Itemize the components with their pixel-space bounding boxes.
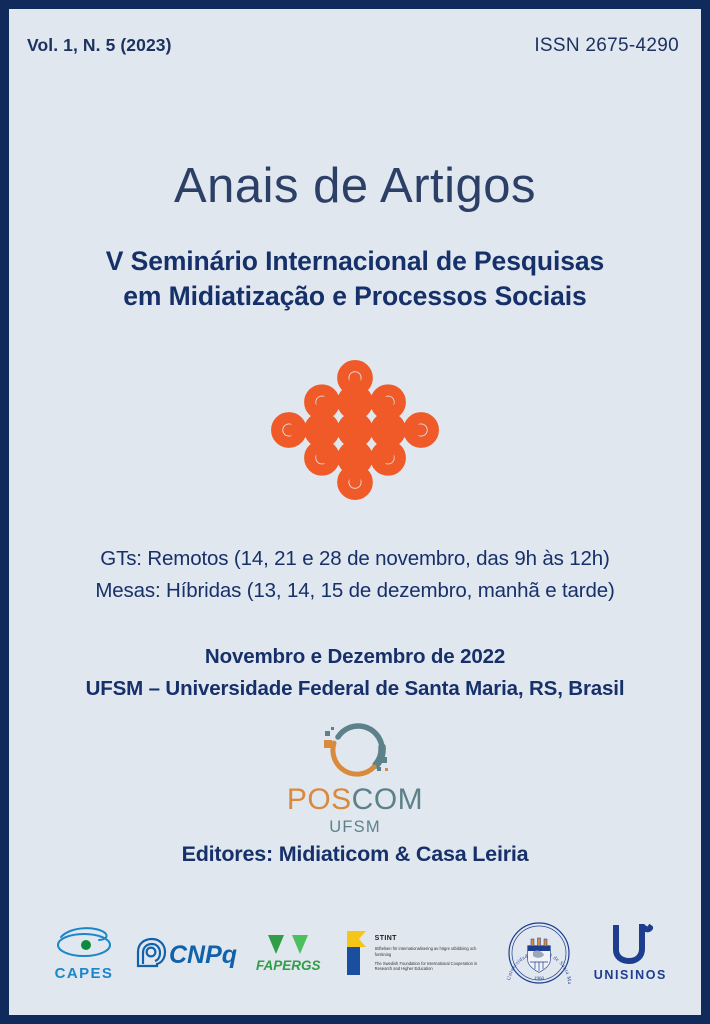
ufsm-seal-year: 1960 xyxy=(534,977,545,982)
stint-swedish-text: Stiftelsen för internationalisering av h… xyxy=(375,946,480,957)
subtitle-line-2: em Midiatização e Processos Sociais xyxy=(9,279,701,314)
logo-cnpq: CNPq xyxy=(133,936,237,970)
capes-label: CAPES xyxy=(55,965,114,982)
network-logo xyxy=(268,343,442,517)
sponsor-logo-row: CAPES CNPq FAPERGS xyxy=(9,907,701,999)
subtitle: V Seminário Internacional de Pesquisas e… xyxy=(9,244,701,314)
schedule-line-gts: GTs: Remotos (14, 21 e 28 de novembro, d… xyxy=(9,543,701,575)
logo-ufsm-seal: Universidade Federal de Santa Maria xyxy=(502,916,576,990)
svg-text:FAPERGS: FAPERGS xyxy=(256,958,321,973)
stint-label: STINT xyxy=(375,934,485,943)
stint-english-text: The Swedish Foundation for International… xyxy=(375,961,485,972)
schedule-line-mesas: Mesas: Híbridas (13, 14, 15 de dezembro,… xyxy=(9,575,701,607)
subtitle-line-1: V Seminário Internacional de Pesquisas xyxy=(9,244,701,279)
event-date: Novembro e Dezembro de 2022 xyxy=(9,641,701,673)
event-venue: UFSM – Universidade Federal de Santa Mar… xyxy=(9,673,701,705)
journal-cover: Vol. 1, N. 5 (2023) ISSN 2675-4290 Anais… xyxy=(0,0,710,1024)
poscom-word-com: COM xyxy=(352,783,424,816)
poscom-wordmark: POSCOM xyxy=(265,785,445,815)
schedule-block: GTs: Remotos (14, 21 e 28 de novembro, d… xyxy=(9,543,701,607)
logo-unisinos: UNISINOS xyxy=(594,924,667,982)
title-block: Anais de Artigos V Seminário Internacion… xyxy=(9,161,701,314)
unisinos-label: UNISINOS xyxy=(594,968,667,982)
poscom-sublabel: UFSM xyxy=(265,818,445,837)
editors-line: Editores: Midiaticom & Casa Leiria xyxy=(9,842,701,867)
fapergs-leaf-icon: FAPERGS xyxy=(254,932,326,974)
svg-text:CNPq: CNPq xyxy=(169,941,237,969)
logo-stint: STINT Stiftelsen för internationaliserin… xyxy=(344,929,485,977)
capes-atom-icon xyxy=(53,924,115,964)
logo-capes: CAPES xyxy=(53,924,115,982)
page-title: Anais de Artigos xyxy=(9,161,701,212)
poscom-ring-icon xyxy=(312,721,398,783)
issn-label: ISSN 2675-4290 xyxy=(534,35,679,57)
cover-header: Vol. 1, N. 5 (2023) ISSN 2675-4290 xyxy=(9,35,701,57)
cnpq-head-icon: CNPq xyxy=(133,936,237,970)
volume-label: Vol. 1, N. 5 (2023) xyxy=(27,35,172,57)
stint-flag-icon xyxy=(344,929,370,977)
ufsm-seal-icon: Universidade Federal de Santa Maria xyxy=(502,916,576,990)
network-nodes-icon xyxy=(268,343,442,517)
logo-fapergs: FAPERGS xyxy=(254,932,326,974)
poscom-logo: POSCOM UFSM xyxy=(265,721,445,837)
place-block: Novembro e Dezembro de 2022 UFSM – Unive… xyxy=(9,641,701,705)
unisinos-mark-icon xyxy=(607,924,653,966)
poscom-word-pos: POS xyxy=(287,783,352,816)
